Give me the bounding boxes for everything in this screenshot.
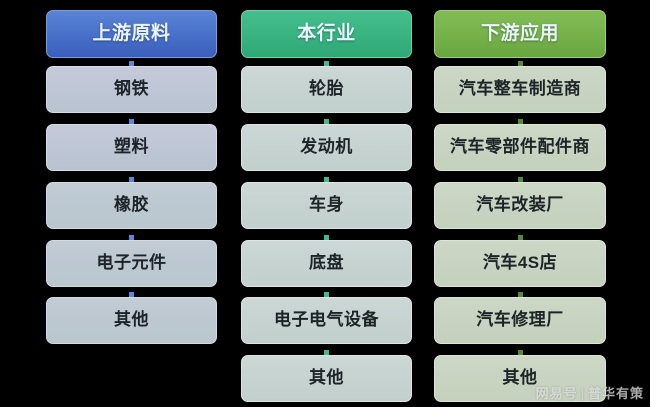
watermark-platform: 网易号 — [536, 386, 578, 401]
watermark: 网易号|普华有策 — [536, 383, 644, 402]
node-upstream-2[interactable]: 塑料 — [46, 124, 217, 171]
node-upstream-5[interactable]: 其他 — [46, 297, 217, 344]
watermark-separator: | — [581, 386, 585, 401]
node-upstream-1[interactable]: 钢铁 — [46, 66, 217, 113]
column-header-upstream[interactable]: 上游原料 — [46, 10, 217, 58]
node-industry-6[interactable]: 其他 — [241, 355, 412, 402]
node-industry-3[interactable]: 车身 — [241, 182, 412, 229]
node-industry-1[interactable]: 轮胎 — [241, 66, 412, 113]
node-industry-2[interactable]: 发动机 — [241, 124, 412, 171]
node-industry-5[interactable]: 电子电气设备 — [241, 297, 412, 344]
node-downstream-3[interactable]: 汽车改装厂 — [434, 182, 606, 229]
column-downstream: 下游应用 汽车整车制造商 汽车零部件配件商 汽车改装厂 汽车4S店 汽车修理厂 … — [434, 0, 606, 407]
industry-chain-diagram: 上游原料 钢铁 塑料 橡胶 电子元件 其他 本行业 轮胎 发动机 车身 — [0, 0, 650, 407]
node-downstream-4[interactable]: 汽车4S店 — [434, 240, 606, 287]
node-downstream-1[interactable]: 汽车整车制造商 — [434, 66, 606, 113]
column-header-industry[interactable]: 本行业 — [241, 10, 412, 58]
node-upstream-4[interactable]: 电子元件 — [46, 240, 217, 287]
node-downstream-5[interactable]: 汽车修理厂 — [434, 297, 606, 344]
node-industry-4[interactable]: 底盘 — [241, 240, 412, 287]
watermark-author: 普华有策 — [588, 386, 644, 401]
column-header-downstream[interactable]: 下游应用 — [434, 10, 606, 58]
node-downstream-2[interactable]: 汽车零部件配件商 — [434, 124, 606, 171]
node-upstream-3[interactable]: 橡胶 — [46, 182, 217, 229]
column-upstream: 上游原料 钢铁 塑料 橡胶 电子元件 其他 — [46, 0, 217, 407]
column-industry: 本行业 轮胎 发动机 车身 底盘 电子电气设备 其他 — [241, 0, 412, 407]
